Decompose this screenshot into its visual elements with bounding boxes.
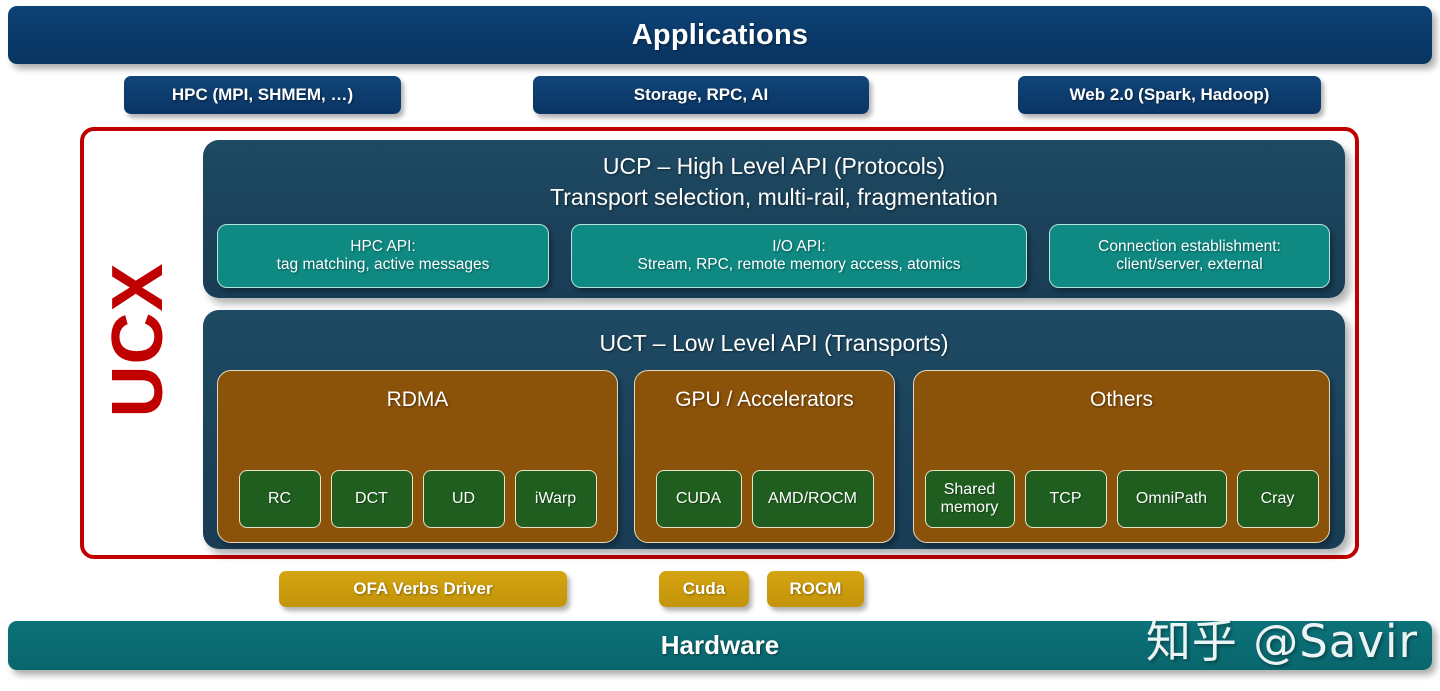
application-pill-storage: Storage, RPC, AI (533, 76, 869, 114)
ucp-title: UCP – High Level API (Protocols) (603, 153, 945, 179)
application-pill-web: Web 2.0 (Spark, Hadoop) (1018, 76, 1321, 114)
transport-item-tcp: TCP (1025, 470, 1107, 528)
driver-pill-rocm: ROCM (767, 571, 864, 607)
ucp-api-card-connection: Connection establishment: client/server,… (1049, 224, 1330, 288)
transport-group-gpu-items: CUDA AMD/ROCM (645, 470, 884, 528)
ucp-title-block: UCP – High Level API (Protocols) Transpo… (203, 151, 1345, 213)
transport-group-others-items: Shared memory TCP OmniPath Cray (924, 470, 1319, 528)
ucp-api-card-io-line1: I/O API: (772, 238, 825, 256)
transport-group-gpu-title: GPU / Accelerators (635, 388, 894, 412)
uct-title: UCT – Low Level API (Transports) (203, 330, 1345, 357)
transport-item-omnipath: OmniPath (1117, 470, 1227, 528)
driver-pill-ofa-verbs: OFA Verbs Driver (279, 571, 567, 607)
transport-group-rdma: RDMA RC DCT UD iWarp (217, 370, 618, 543)
transport-group-rdma-title: RDMA (218, 388, 617, 412)
ucx-architecture-diagram: Applications HPC (MPI, SHMEM, …) Storage… (0, 0, 1440, 691)
driver-pill-cuda: Cuda (659, 571, 749, 607)
transport-group-gpu: GPU / Accelerators CUDA AMD/ROCM (634, 370, 895, 543)
transport-item-shared-memory: Shared memory (925, 470, 1015, 528)
transport-item-cray: Cray (1237, 470, 1319, 528)
transport-item-amd-rocm: AMD/ROCM (752, 470, 874, 528)
ucp-api-card-connection-line1: Connection establishment: (1098, 238, 1281, 256)
ucp-api-card-io: I/O API: Stream, RPC, remote memory acce… (571, 224, 1027, 288)
transport-group-rdma-items: RC DCT UD iWarp (228, 470, 607, 528)
hardware-bar: Hardware (8, 621, 1432, 670)
applications-bar: Applications (8, 6, 1432, 64)
ucp-subtitle: Transport selection, multi-rail, fragmen… (203, 182, 1345, 213)
ucp-api-card-hpc: HPC API: tag matching, active messages (217, 224, 549, 288)
ucp-api-card-hpc-line2: tag matching, active messages (277, 256, 490, 274)
application-pill-hpc: HPC (MPI, SHMEM, …) (124, 76, 401, 114)
ucp-api-card-hpc-line1: HPC API: (350, 238, 415, 256)
transport-group-others: Others Shared memory TCP OmniPath Cray (913, 370, 1330, 543)
transport-item-iwarp: iWarp (515, 470, 597, 528)
ucp-api-card-io-line2: Stream, RPC, remote memory access, atomi… (638, 256, 961, 274)
transport-item-ud: UD (423, 470, 505, 528)
ucp-api-card-connection-line2: client/server, external (1116, 256, 1262, 274)
transport-item-dct: DCT (331, 470, 413, 528)
transport-item-rc: RC (239, 470, 321, 528)
transport-group-others-title: Others (914, 388, 1329, 412)
transport-item-cuda: CUDA (656, 470, 742, 528)
